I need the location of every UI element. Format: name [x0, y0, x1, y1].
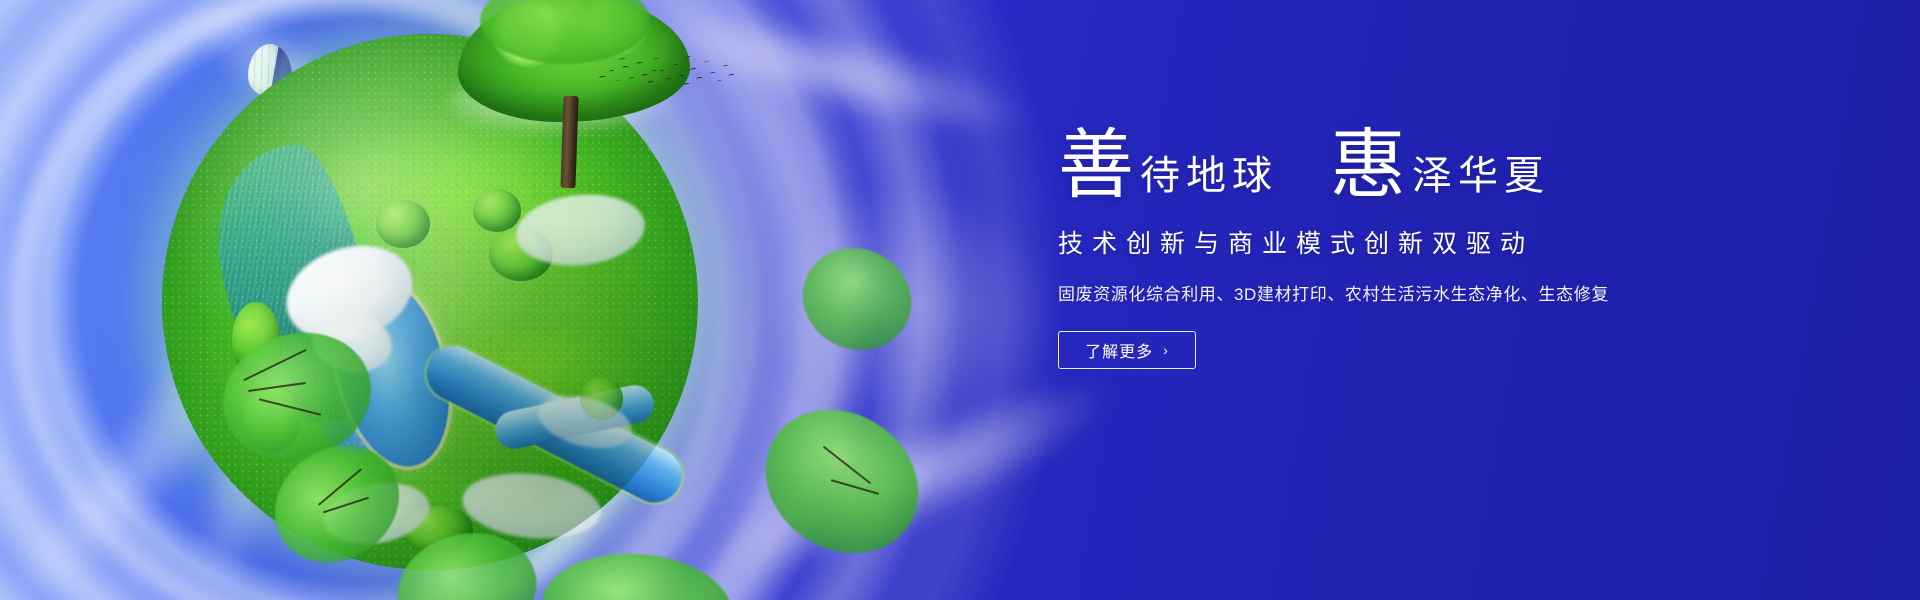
bird-icon: [647, 78, 653, 84]
bird-icon: [665, 75, 671, 81]
learn-more-button[interactable]: 了解更多 ›: [1058, 331, 1196, 369]
bird-icon: [686, 54, 690, 58]
bird-icon: [696, 74, 703, 81]
bird-icon: [654, 56, 659, 61]
learn-more-label: 了解更多: [1085, 338, 1153, 362]
bird-icon: [710, 70, 716, 76]
birds-flock-icon: [596, 48, 736, 96]
bird-icon: [636, 59, 642, 65]
chevron-right-icon: ›: [1163, 342, 1169, 358]
headline-char-2: 惠: [1330, 128, 1406, 204]
bird-icon: [641, 71, 647, 77]
bird-icon: [660, 68, 665, 73]
bird-icon: [673, 62, 679, 68]
bird-icon: [622, 63, 628, 69]
hero-description: 固废资源化综合利用、3D建材打印、农村生活污水生态净化、生态修复: [1058, 280, 1758, 305]
side-tree: [538, 548, 735, 600]
hero-subtitle: 技术创新与商业模式创新双驱动: [1058, 224, 1758, 260]
bird-icon: [683, 80, 689, 86]
bird-icon: [619, 55, 626, 62]
page-title: 善 待地球 惠 泽华夏: [1058, 128, 1758, 204]
bird-icon: [609, 68, 615, 74]
tree-trunk: [560, 96, 578, 188]
bird-icon: [599, 73, 606, 80]
bird-icon: [679, 73, 685, 79]
side-tree: [786, 231, 927, 367]
bird-icon: [728, 71, 734, 77]
bird-icon: [652, 68, 657, 73]
headline-rest-1: 待地球: [1140, 156, 1278, 196]
bird-icon: [723, 63, 729, 69]
bird-icon: [704, 59, 709, 64]
green-earth-globe: [162, 34, 698, 570]
bird-icon: [717, 78, 721, 82]
headline-rest-2: 泽华夏: [1412, 156, 1550, 196]
headline-char-1: 善: [1058, 128, 1134, 204]
bird-icon: [616, 78, 620, 82]
bird-icon: [628, 74, 634, 80]
hero-copy: 善 待地球 惠 泽华夏 技术创新与商业模式创新双驱动 固废资源化综合利用、3D建…: [1058, 128, 1758, 369]
bird-icon: [690, 65, 697, 72]
hero-banner: 善 待地球 惠 泽华夏 技术创新与商业模式创新双驱动 固废资源化综合利用、3D建…: [0, 0, 1920, 600]
